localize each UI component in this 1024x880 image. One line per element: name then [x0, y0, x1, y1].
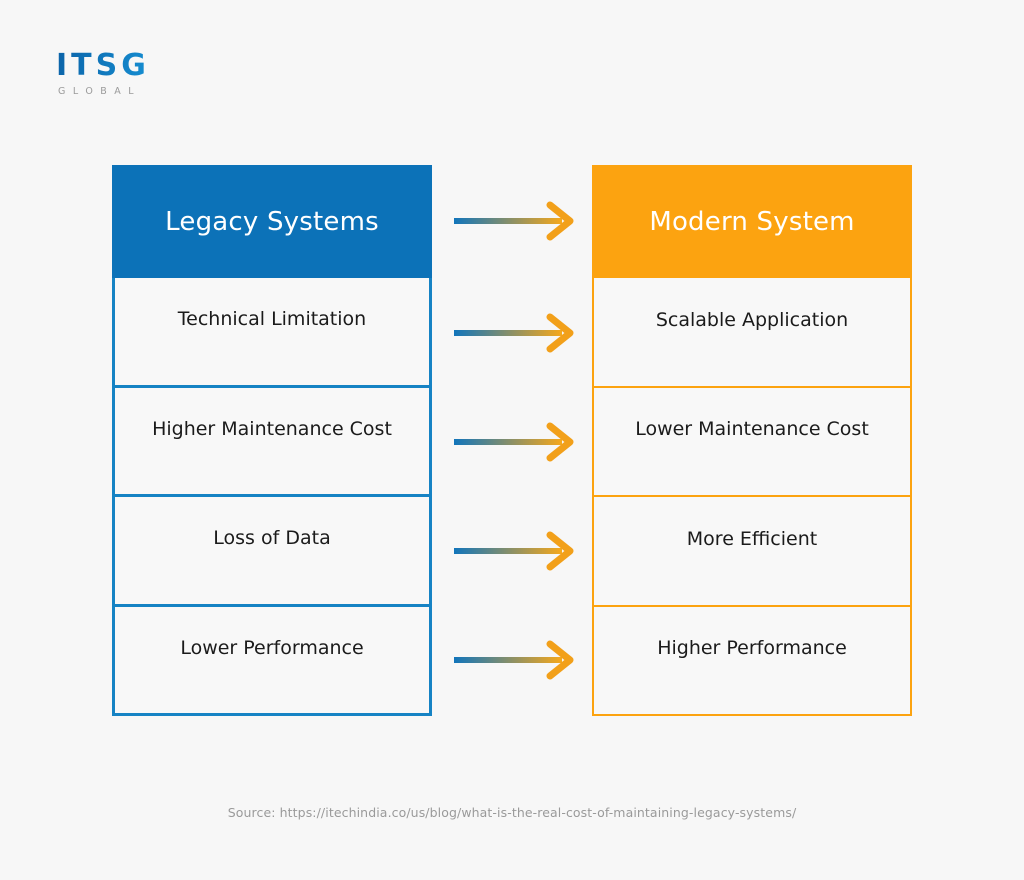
modern-row-3: More Efficient	[592, 497, 912, 607]
arrow-right-icon-5	[452, 640, 582, 680]
arrow-right-icon-3	[452, 422, 582, 462]
modern-system-column: Modern System Scalable Application Lower…	[592, 165, 912, 717]
legacy-systems-header: Legacy Systems	[112, 165, 432, 278]
arrow-right-icon-1	[452, 201, 582, 241]
arrow-group	[452, 165, 592, 717]
legacy-row-2: Higher Maintenance Cost	[112, 388, 432, 498]
modern-row-2: Lower Maintenance Cost	[592, 388, 912, 498]
modern-row-4: Higher Performance	[592, 607, 912, 717]
legacy-row-4: Lower Performance	[112, 607, 432, 717]
modern-row-1: Scalable Application	[592, 278, 912, 388]
arrow-right-icon-4	[452, 531, 582, 571]
comparison-diagram: Legacy Systems Technical Limitation High…	[112, 165, 912, 717]
arrow-right-icon-2	[452, 313, 582, 353]
logo-wordmark: ITSG	[56, 50, 256, 82]
source-caption: Source: https://itechindia.co/us/blog/wh…	[0, 805, 1024, 820]
logo-tagline: GLOBAL	[56, 85, 256, 99]
modern-system-header: Modern System	[592, 165, 912, 278]
legacy-row-1: Technical Limitation	[112, 278, 432, 388]
itsg-global-logo: ITSG GLOBAL	[56, 50, 256, 102]
legacy-row-3: Loss of Data	[112, 497, 432, 607]
legacy-systems-column: Legacy Systems Technical Limitation High…	[112, 165, 432, 717]
